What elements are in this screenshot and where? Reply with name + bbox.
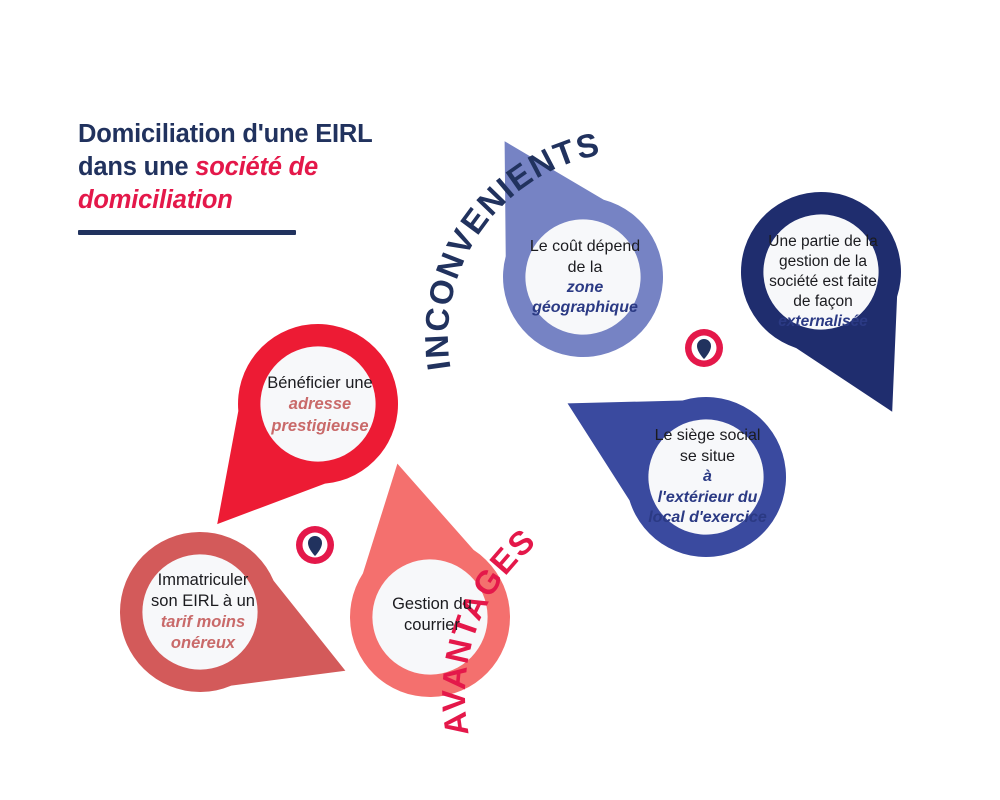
pin-gestion-externalisee[interactable] [713,164,963,448]
infographic-canvas: Domiciliation d'une EIRL dans une sociét… [0,0,1000,800]
pins-illustration: INCONVENIENTS AVANTAGES [0,0,1000,800]
map-pin-icon [685,329,723,367]
map-pin-icon [296,526,334,564]
pin-siege-social-exterieur[interactable] [530,333,814,585]
